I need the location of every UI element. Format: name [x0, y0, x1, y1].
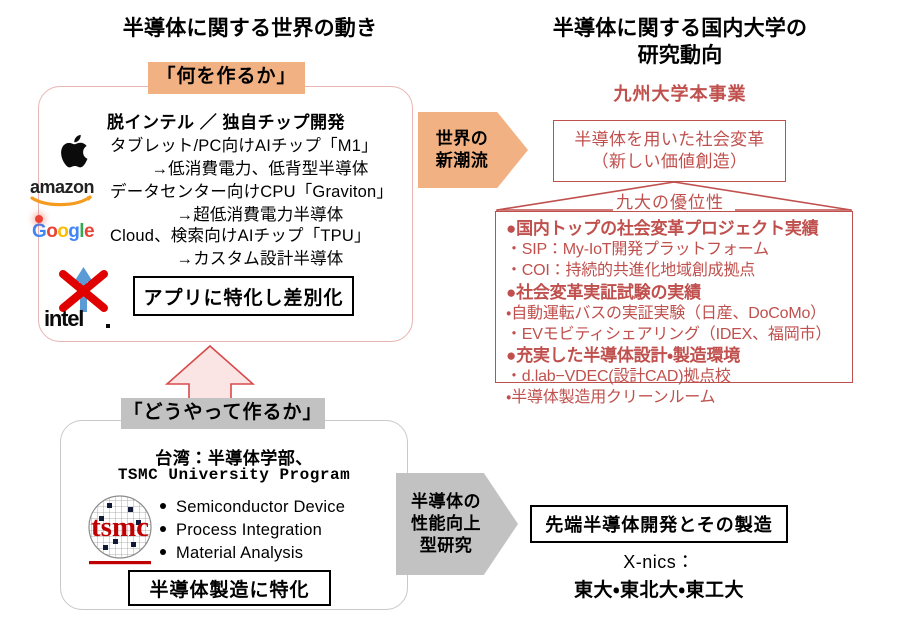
arrow-line1: 世界の	[436, 128, 489, 150]
kyushu-advantages-box: ●国内トップの社会変革プロジェクト実績 ・SIP：My-IoT開発プラットフォー…	[495, 211, 853, 383]
page-title-right-line2: 研究動向	[470, 43, 890, 70]
list-item-sub: ・EVモビティシェアリング（IDEX、福岡市）	[506, 325, 848, 346]
tsmc-logo: tsmc	[73, 494, 167, 570]
chip-what-to-make: 「何を作るか」	[148, 62, 305, 94]
arrow-performance-research: 半導体の 性能向上 型研究	[396, 473, 518, 575]
arrow-line2: 新潮流	[436, 150, 489, 172]
google-logo-dot	[35, 215, 43, 223]
tsmc-line2: TSMC University Program	[65, 466, 403, 484]
intel-logo-crossed: intel	[40, 266, 126, 332]
slide-canvas: 半導体に関する世界の動き 半導体に関する国内大学の 研究動向 「何を作るか」 脱…	[0, 0, 907, 617]
apple-chip-line: タブレット/PC向けAIチップ「M1」	[110, 132, 378, 156]
intel-period-dot	[106, 324, 110, 328]
intel-wordmark: intel	[44, 308, 83, 330]
list-item: Semiconductor Device	[176, 498, 345, 517]
list-item-head: ●社会変革実証試験の実績	[506, 282, 848, 304]
google-logo: Google	[24, 222, 110, 241]
bullet-dot-icon	[160, 549, 166, 555]
list-item-sub: ・SIP：My-IoT開発プラットフォーム	[506, 240, 848, 261]
kyushu-project-title: 九州大学本事業	[520, 80, 840, 106]
tsmc-bullet-list: Semiconductor Device	[176, 498, 345, 517]
list-item-sub: ・半導体製造用クリーンルーム	[506, 388, 848, 409]
bullet-dot-icon	[160, 526, 166, 532]
advanced-semiconductor-box: 先端半導体開発とその製造	[530, 505, 788, 543]
list-item-sub: ・自動運転バスの実証実験（日産、DoCoMo）	[506, 304, 848, 325]
google-chip-line: Cloud、検索向けAIチップ「TPU」	[110, 222, 371, 246]
arrow-line3: 型研究	[420, 535, 473, 557]
xnics-label: X-nics：	[530, 548, 788, 574]
google-chip-sub: →カスタム設計半導体	[110, 245, 410, 269]
funnel-label: 九大の優位性	[560, 188, 780, 213]
apple-chip-sub: →低消費電力、低背型半導体	[110, 155, 410, 179]
list-item-sub: ・d.lab−VDEC(設計CAD)拠点校	[506, 367, 848, 388]
kyushu-theme-line1: 半導体を用いた社会変革	[574, 129, 764, 151]
list-item-sub: ・COI：持続的共進化地域創成拠点	[506, 261, 848, 282]
arrow-line1: 半導体の	[411, 491, 481, 513]
kyushu-theme-box: 半導体を用いた社会変革 （新しい価値創造）	[553, 120, 786, 182]
arrow-line2: 性能向上	[411, 513, 481, 535]
page-title-right-line1: 半導体に関する国内大学の	[470, 16, 890, 43]
list-item-head: ●充実した半導体設計・製造環境	[506, 345, 848, 367]
arrow-world-new-trend-label: 世界の 新潮流	[418, 112, 528, 188]
apple-logo	[45, 130, 107, 172]
page-title-right: 半導体に関する国内大学の 研究動向	[470, 16, 890, 70]
amazon-logo: amazon	[20, 178, 110, 207]
universities-label: 東大・東北大・東工大	[512, 575, 806, 602]
left-bottom-conclusion-box: 半導体製造に特化	[128, 570, 331, 606]
list-item-head: ●国内トップの社会変革プロジェクト実績	[506, 218, 848, 240]
list-item: Process Integration	[176, 521, 322, 540]
amazon-chip-line: データセンター向けCPU「Graviton」	[110, 178, 393, 202]
left-top-conclusion-box: アプリに特化し差別化	[133, 276, 354, 316]
page-title-left: 半導体に関する世界の動き	[55, 16, 445, 43]
kyushu-theme-line2: （新しい価値創造）	[592, 151, 748, 173]
arrow-performance-research-label: 半導体の 性能向上 型研究	[396, 473, 518, 575]
arrow-world-new-trend: 世界の 新潮流	[418, 112, 528, 188]
bullet-dot-icon	[160, 503, 166, 509]
chip-how-to-make: 「どうやって作るか」	[121, 398, 325, 429]
list-item: Material Analysis	[176, 544, 303, 563]
svg-text:tsmc: tsmc	[91, 511, 149, 543]
